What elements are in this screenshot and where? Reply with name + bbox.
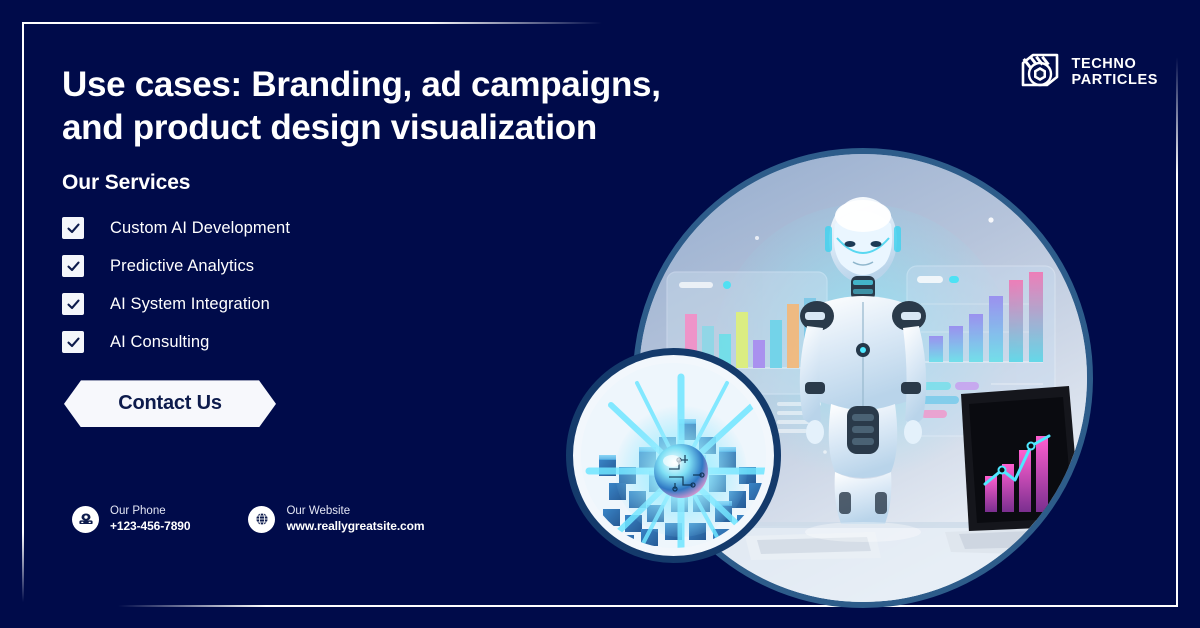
logo-line-1: TECHNO	[1072, 57, 1159, 73]
circuit-orb	[654, 444, 708, 498]
cube-logo-icon	[1017, 50, 1063, 96]
content-column: Use cases: Branding, ad campaigns, and p…	[62, 64, 682, 427]
logo-line-2: PARTICLES	[1072, 73, 1159, 89]
contact-phone-value: +123-456-7890	[110, 519, 190, 534]
globe-icon	[248, 506, 275, 533]
service-label: AI System Integration	[110, 295, 270, 314]
logo-wordmark: TECHNO PARTICLES	[1072, 57, 1159, 88]
list-item[interactable]: AI System Integration	[62, 285, 682, 323]
contact-website-value: www.reallygreatsite.com	[286, 519, 424, 534]
contact-website-label: Our Website	[286, 504, 424, 519]
checkbox-checked-icon[interactable]	[62, 331, 84, 353]
promo-banner: TECHNO PARTICLES Use cases: Branding, ad…	[0, 0, 1200, 628]
contact-phone-text: Our Phone +123-456-7890	[110, 504, 190, 534]
contact-strip: Our Phone +123-456-7890 Our W	[72, 504, 424, 534]
services-list: Custom AI Development Predictive Analyti…	[62, 209, 682, 361]
contact-us-button[interactable]: Contact Us	[64, 380, 276, 427]
contact-phone-label: Our Phone	[110, 504, 190, 519]
contact-phone[interactable]: Our Phone +123-456-7890	[72, 504, 190, 534]
service-label: Custom AI Development	[110, 219, 290, 238]
list-item[interactable]: AI Consulting	[62, 323, 682, 361]
contact-website-text: Our Website www.reallygreatsite.com	[286, 504, 424, 534]
list-item[interactable]: Predictive Analytics	[62, 247, 682, 285]
contact-website[interactable]: Our Website www.reallygreatsite.com	[248, 504, 424, 534]
checkbox-checked-icon[interactable]	[62, 217, 84, 239]
brand-logo[interactable]: TECHNO PARTICLES	[1017, 50, 1159, 96]
service-label: Predictive Analytics	[110, 257, 254, 276]
page-title: Use cases: Branding, ad campaigns, and p…	[62, 64, 662, 149]
service-label: AI Consulting	[110, 333, 209, 352]
checkbox-checked-icon[interactable]	[62, 255, 84, 277]
phone-icon	[72, 506, 99, 533]
list-item[interactable]: Custom AI Development	[62, 209, 682, 247]
services-heading: Our Services	[62, 171, 682, 195]
checkbox-checked-icon[interactable]	[62, 293, 84, 315]
